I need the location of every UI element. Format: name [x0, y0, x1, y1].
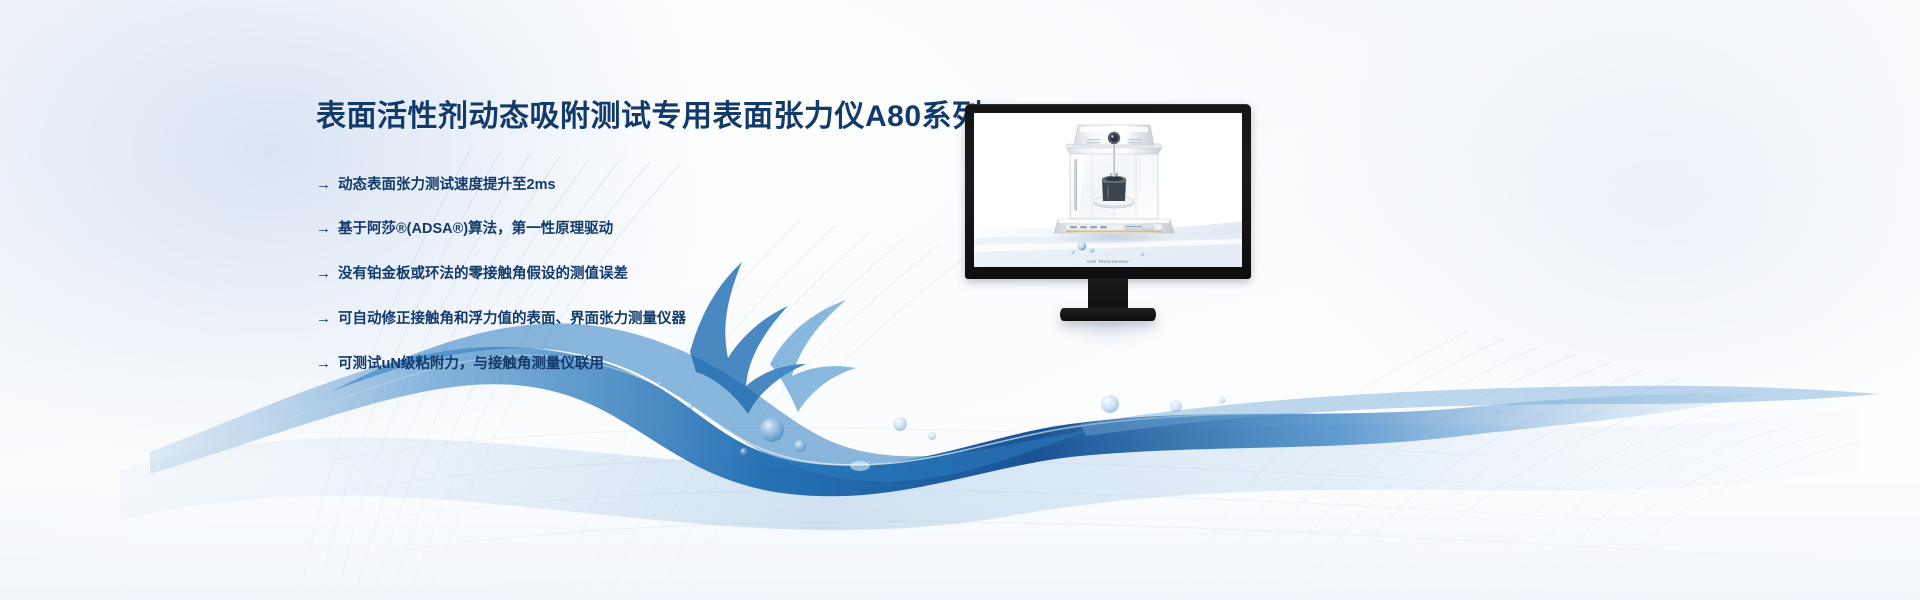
monitor-stand-base — [1060, 308, 1156, 321]
banner-text-column: 表面活性剂动态吸附测试专用表面张力仪A80系列 → 动态表面张力测试速度提升至2… — [316, 98, 956, 374]
water-wave-decoration — [0, 0, 1920, 600]
feature-item-3: → 没有铂金板或环法的零接触角假设的测值误差 — [316, 264, 956, 284]
arrow-icon: → — [316, 264, 338, 284]
hero-banner: 表面活性剂动态吸附测试专用表面张力仪A80系列 → 动态表面张力测试速度提升至2… — [0, 0, 1920, 600]
feature-text: 没有铂金板或环法的零接触角假设的测值误差 — [338, 265, 628, 284]
monitor-bezel: A80 Tensiometer — [965, 104, 1251, 279]
water-droplets — [658, 382, 1226, 472]
arrow-icon: → — [316, 354, 338, 374]
monitor-screen: A80 Tensiometer — [974, 113, 1242, 267]
feature-item-4: → 可自动修正接触角和浮力值的表面、界面张力测量仪器 — [316, 309, 956, 329]
arrow-icon: → — [316, 219, 338, 239]
background-glow-bottom — [0, 340, 1920, 600]
feature-text: 基于阿莎®(ADSA®)算法，第一性原理驱动 — [338, 220, 613, 239]
page-title: 表面活性剂动态吸附测试专用表面张力仪A80系列 — [316, 98, 956, 136]
feature-text: 动态表面张力测试速度提升至2ms — [338, 176, 556, 195]
background-glow-right — [1280, 0, 1920, 460]
arrow-icon: → — [316, 175, 338, 195]
feature-list: → 动态表面张力测试速度提升至2ms → 基于阿莎®(ADSA®)算法，第一性原… — [316, 175, 956, 374]
feature-item-2: → 基于阿莎®(ADSA®)算法，第一性原理驱动 — [316, 219, 956, 239]
product-monitor: A80 Tensiometer — [965, 104, 1251, 323]
arrow-icon: → — [316, 309, 338, 329]
monitor-stand-neck — [1088, 278, 1128, 312]
feature-item-5: → 可测试uN级粘附力，与接触角测量仪联用 — [316, 354, 956, 374]
feature-text: 可测试uN级粘附力，与接触角测量仪联用 — [338, 355, 604, 374]
feature-item-1: → 动态表面张力测试速度提升至2ms — [316, 175, 956, 195]
tensiometer-instrument-photo — [974, 113, 1242, 267]
feature-text: 可自动修正接触角和浮力值的表面、界面张力测量仪器 — [338, 310, 686, 329]
monitor-brand-label: A80 Tensiometer — [1087, 259, 1130, 264]
monitor-reflection — [1048, 322, 1168, 348]
